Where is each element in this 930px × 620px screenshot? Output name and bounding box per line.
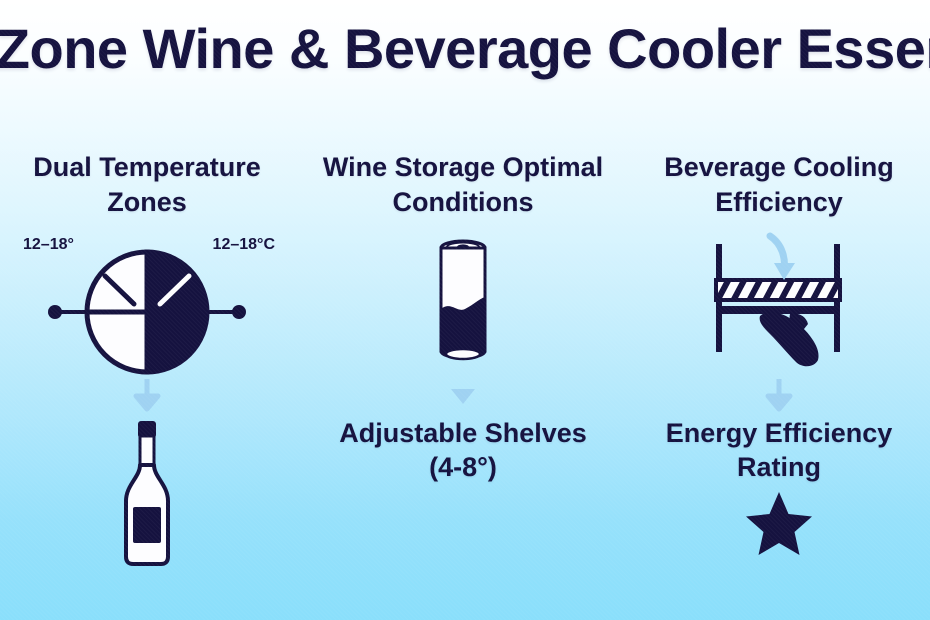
down-arrow-icon xyxy=(134,379,160,413)
column-caption: Adjustable Shelves (4-8°) xyxy=(313,417,613,484)
down-triangle-icon xyxy=(449,386,477,406)
caption-main: Adjustable Shelves xyxy=(339,418,587,448)
down-arrow-icon xyxy=(766,379,792,413)
column-caption: Energy Efficiency Rating xyxy=(629,417,929,484)
star-rating-icon xyxy=(744,490,814,558)
caption-main: Energy Efficiency Rating xyxy=(666,418,893,481)
column-heading: Dual Temperature Zones xyxy=(0,150,297,219)
column-heading: Beverage Cooling Efficiency xyxy=(629,150,929,219)
wine-bottle-slot xyxy=(0,417,297,569)
column-heading: Wine Storage Optimal Conditions xyxy=(313,150,613,219)
shelf-rack-hand-icon xyxy=(704,230,854,370)
dual-zone-gauge-slot: 12–18° 12–18°C xyxy=(0,225,297,375)
column-wine-storage: Wine Storage Optimal Conditions xyxy=(313,150,613,484)
infographic-canvas: Dual Zone Wine & Beverage Cooler Essenti… xyxy=(0,0,930,620)
shelf-rack-slot xyxy=(629,225,929,375)
star-rating-slot xyxy=(629,484,929,564)
column-beverage-cooling: Beverage Cooling Efficiency xyxy=(629,150,929,564)
beverage-can-icon xyxy=(431,235,495,365)
wine-bottle-icon xyxy=(111,419,183,567)
down-triangle-slot xyxy=(313,375,613,417)
page-title: Dual Zone Wine & Beverage Cooler Essenti… xyxy=(0,16,930,81)
down-arrow-slot xyxy=(0,375,297,417)
beverage-can-slot xyxy=(313,225,613,375)
gauge-label-left: 12–18° xyxy=(23,236,74,254)
caption-sub: (4-8°) xyxy=(317,451,609,484)
gauge-label-right: 12–18°C xyxy=(213,236,275,254)
down-arrow-slot xyxy=(629,375,929,417)
column-dual-temperature-zones: Dual Temperature Zones 12–18° 12–18°C xyxy=(0,150,297,569)
